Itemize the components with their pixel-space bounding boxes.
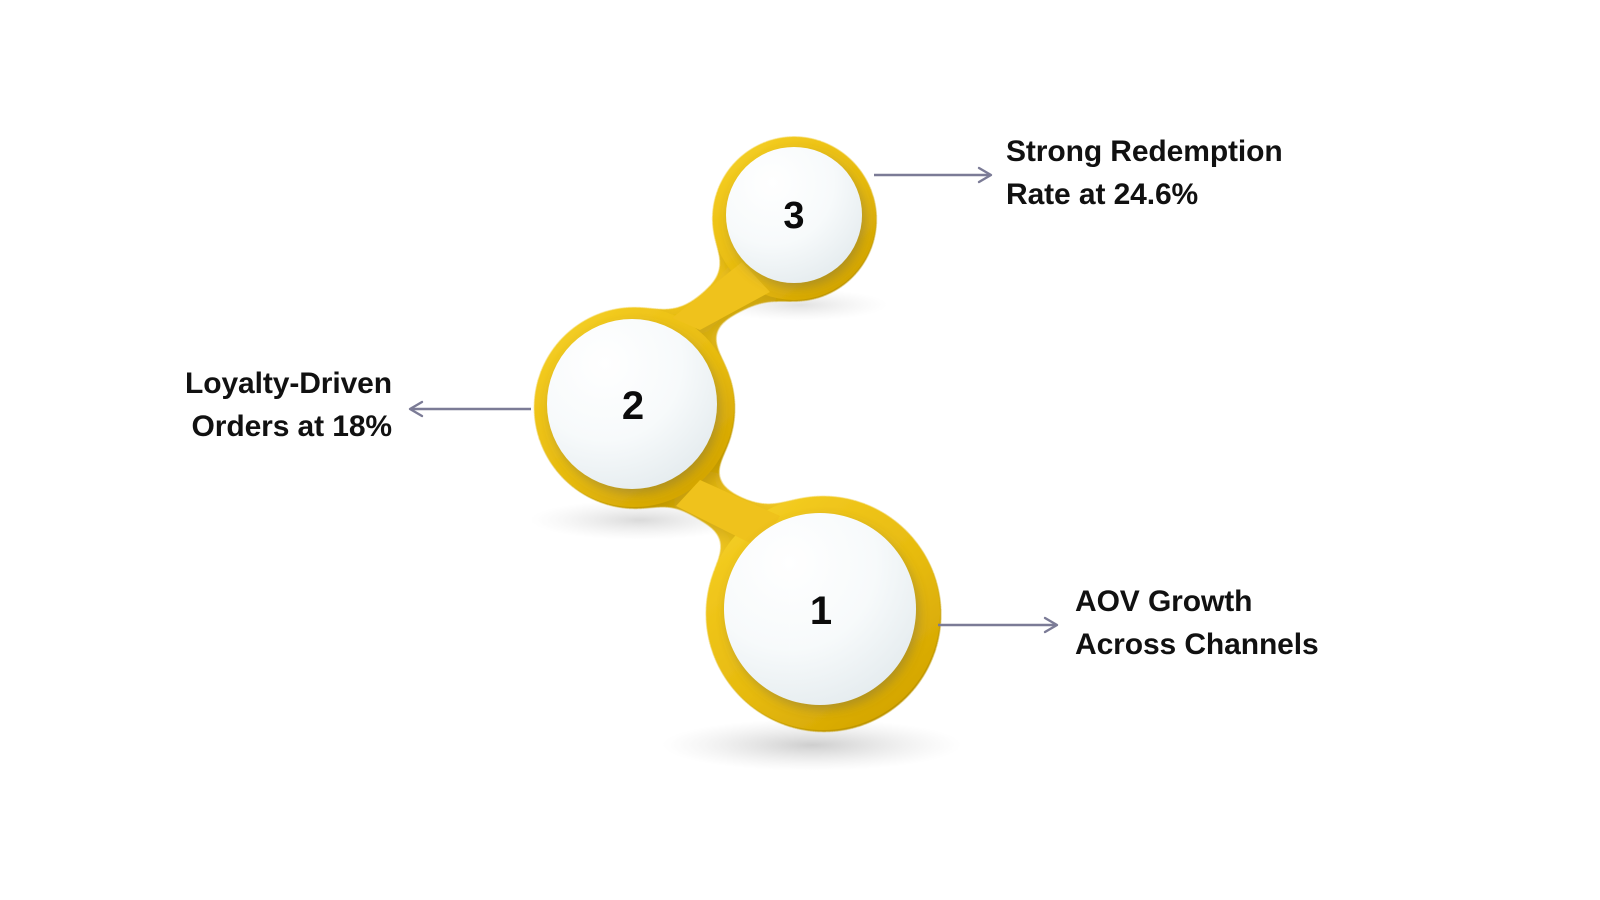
callout-label-node-2: Loyalty-Driven Orders at 18% [185,363,392,448]
metaball-graphic [0,0,1600,900]
connector-node-2 [410,402,531,416]
callout-label-node-3: Strong Redemption Rate at 24.6% [1006,131,1283,216]
callout-label-node-1: AOV Growth Across Channels [1075,581,1319,666]
infographic-canvas: 3 2 1 Strong Redemption Rate at 24.6% Lo… [0,0,1600,900]
connector-node-1 [938,618,1057,632]
step-number-1: 1 [810,591,832,631]
step-number-2: 2 [622,386,644,426]
connector-node-3 [874,168,991,182]
step-number-3: 3 [783,197,804,235]
